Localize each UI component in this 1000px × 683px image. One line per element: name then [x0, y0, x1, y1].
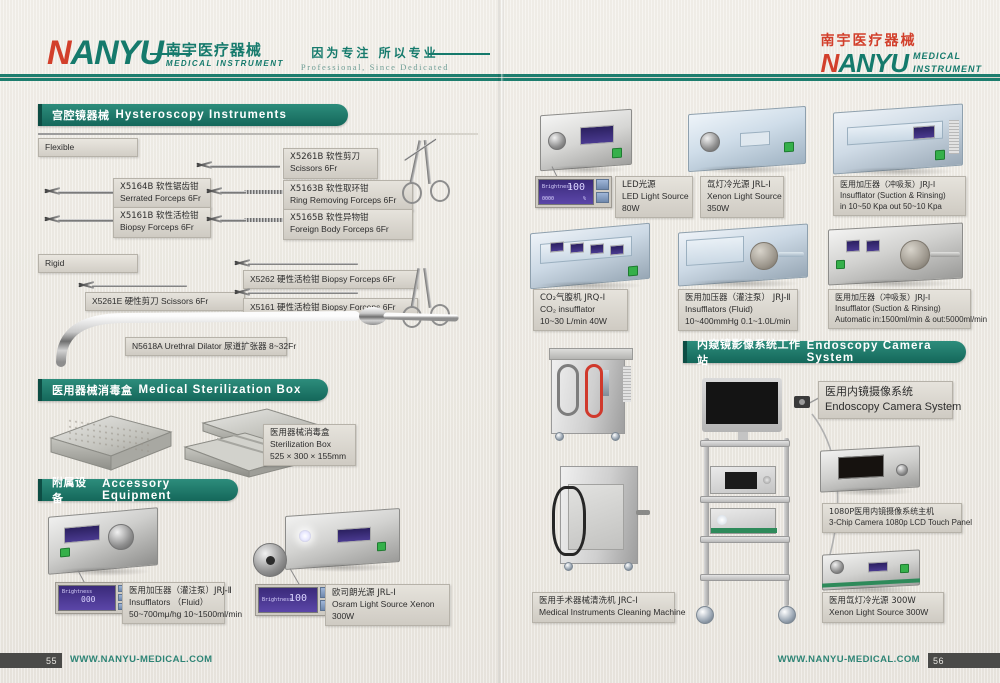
- instrument-jaw-ring-removing: [206, 186, 222, 197]
- cleaning-machine-red-hose: [585, 364, 603, 418]
- page-spine: [498, 0, 504, 683]
- forceps-arm-a-upper: [409, 140, 421, 184]
- instrument-label-x5163b-en: Ring Removing Forceps 6Fr: [290, 195, 406, 206]
- device-shadow-insufflator-suction-2: [836, 279, 955, 288]
- device-label-co2-spec: 10~30 L/min 40W: [540, 316, 621, 327]
- device-label-led-spec: 80W: [622, 203, 686, 214]
- device-shadow-camera-host: [826, 487, 914, 496]
- instrument-jaw-rigid-scissors: [78, 280, 94, 291]
- device-tube-port-insufflator-suction-2: [930, 252, 960, 257]
- device-shadow-insufflator-fluid-2: [686, 279, 800, 288]
- trolley-camera-host: [710, 466, 776, 494]
- brand-name-cn-right: 南宇医疗器械: [821, 30, 982, 50]
- camera-system-main-label-cn: 医用内镜摄像系统: [825, 385, 946, 400]
- mini-lcd-value-osram: 100: [289, 593, 307, 604]
- section-banner-camera-system: 内窥镜影像系统工作站 Endoscopy Camera System: [683, 341, 966, 363]
- device-label-insufflator-fluid-cn: 医用加压器（灌注泵）JRJ-Ⅱ: [129, 586, 218, 597]
- section-banner-hysteroscopy-en: Hysteroscopy Instruments: [116, 109, 287, 121]
- trolley-shelf-2: [700, 496, 790, 503]
- page-number-left: 55: [0, 653, 62, 668]
- device-label-insufflator-suction-1-cn: 医用加压器（冲吸泵）JRJ-Ⅰ: [840, 180, 959, 191]
- instrument-label-x5165b-cn: X5165B 软性异物钳: [290, 213, 406, 224]
- brand-wordmark: NANYU: [47, 36, 163, 70]
- instrument-shaft-ring-removing: [220, 191, 246, 194]
- trolley-light-source-stripe: [711, 528, 777, 533]
- device-power-button-xenon: [784, 142, 794, 153]
- device-label-insufflator-fluid-spec: 50~700mμ/hg 10~1500ml/min: [129, 609, 218, 620]
- device-label-xenon: 氙灯冷光源 JRL-Ⅰ Xenon Light Source 350W: [700, 176, 784, 218]
- instrument-jaw-serrated: [44, 186, 60, 197]
- device-label-insufflator-suction-1-spec: in 10~50 Kpa out 50~10 Kpa: [840, 202, 959, 213]
- device-label-led-en: LED Light Source: [622, 191, 686, 202]
- device-image-insufflator-suction-2: [828, 226, 963, 282]
- instrument-label-x5165b: X5165B 软性异物钳 Foreign Body Forceps 6Fr: [283, 209, 413, 240]
- forceps-ring-a-upper: [402, 182, 422, 204]
- section-banner-sterilization-cn: 医用器械消毒盒: [52, 382, 133, 398]
- device-image-xenon-300w: [822, 552, 920, 588]
- device-label-insufflator-suction-1: 医用加压器（冲吸泵）JRJ-Ⅰ Insufflator (Suction & R…: [833, 176, 966, 216]
- instrument-shaft-serrated: [58, 191, 118, 194]
- device-light-port-xenon: [700, 132, 720, 152]
- instrument-label-n5618a-text: N5618A Urethral Dilator 尿道扩张器 8~32Fr: [132, 341, 280, 352]
- mini-lcd-insufflator-fluid: Brightness 000: [58, 585, 116, 611]
- brand-letter-n: N: [47, 34, 71, 72]
- device-label-insufflator-fluid-2-spec: 10~400mmHg 0.1~1.0L/min: [685, 316, 791, 327]
- device-label-co2-cn: CO₂气腹机 JRQ-Ⅰ: [540, 293, 621, 304]
- device-power-button-insufflator-fluid: [60, 548, 70, 558]
- mini-keys-led[interactable]: [596, 179, 609, 205]
- device-label-insufflator-suction-1-en: Insufflator (Suction & Rinsing): [840, 191, 959, 202]
- device-image-cleaning-machine-top: [543, 344, 643, 444]
- instrument-jaw-x5262: [234, 258, 250, 269]
- mini-lcd-unit-led: %: [583, 196, 586, 202]
- sterilization-box-label-size: 525 × 300 × 155mm: [270, 451, 349, 462]
- section-banner-camera-system-en: Endoscopy Camera System: [807, 340, 966, 364]
- device-screen-b-insufflator-suction-2: [866, 240, 880, 253]
- mini-lcd-led: Brightness 100 0000 %: [538, 179, 594, 205]
- trolley-light-source-port: [717, 515, 727, 525]
- catalog-page: NANYU 南宇医疗器械 MEDICAL INSTRUMENT 因为专注 所以专…: [0, 0, 1000, 683]
- device-label-cleaning-machine-en: Medical Instruments Cleaning Machine: [539, 607, 668, 618]
- device-vent-insufflator-suction-1: [949, 120, 959, 154]
- section-banner-accessory: 附属设备 Accessory Equipment: [38, 479, 238, 501]
- device-label-camera-host-cn: 1080P医用内镜摄像系统主机: [829, 507, 955, 518]
- device-label-insufflator-suction-2-en: Insufflator (Suction & Rinsing): [835, 304, 964, 315]
- instrument-jaw-x5161: [234, 287, 250, 298]
- sterilization-box-closed-image: [45, 410, 175, 470]
- cleaning-machine-top-caster-right: [611, 432, 620, 441]
- brand-logo-right: 南宇医疗器械 NANYU MEDICAL INSTRUMENT: [821, 30, 982, 76]
- page-number-right: 56: [928, 653, 1000, 668]
- cleaning-machine-bottom-handle: [636, 510, 650, 515]
- instrument-label-x5261b-cn: X5261B 软性剪刀: [290, 152, 371, 163]
- instrument-jaw-scissors-flex: [196, 160, 212, 171]
- instrument-jaw-biopsy-flex: [44, 214, 60, 225]
- device-power-button-co2: [628, 266, 638, 277]
- device-light-port-xenon-300w: [830, 560, 844, 574]
- device-screen-b-co2: [570, 242, 584, 253]
- brand-wordmark-right: NANYU: [821, 50, 908, 76]
- brand-medical-line1: MEDICAL: [913, 51, 982, 63]
- device-knob-led: [548, 132, 566, 150]
- device-mini-display-led: Brightness 100 0000 %: [535, 176, 612, 208]
- device-screen-xenon-300w: [868, 561, 888, 572]
- sterilization-box-label: 医用器械消毒盒 Sterilization Box 525 × 300 × 15…: [263, 424, 356, 466]
- trolley-monitor-frame: [702, 378, 782, 432]
- device-touch-panel-camera-host: [838, 455, 884, 479]
- device-pump-head-insufflator-suction-2: [900, 240, 930, 270]
- cleaning-machine-bottom-hose: [552, 486, 586, 556]
- forceps-ring-b-upper: [430, 180, 450, 202]
- device-label-cleaning-machine-cn: 医用手术器械清洗机 JRC-Ⅰ: [539, 596, 668, 607]
- device-light-port-osram: [299, 530, 311, 542]
- device-label-xenon-300w-en: Xenon Light Source 300W: [829, 607, 937, 618]
- device-label-xenon-cn: 氙灯冷光源 JRL-Ⅰ: [707, 180, 777, 191]
- device-image-camera-host: [820, 448, 920, 490]
- device-label-insufflator-fluid: 医用加压器（灌注泵）JRJ-Ⅱ Insufflators （Fluid） 50~…: [122, 582, 225, 624]
- footer-url-left[interactable]: WWW.NANYU-MEDICAL.COM: [70, 654, 212, 665]
- device-power-button-insufflator-suction-2: [836, 260, 845, 269]
- section-banner-accessory-en: Accessory Equipment: [102, 478, 238, 502]
- hysteroscopy-top-rule: [38, 133, 478, 135]
- instrument-jaw-foreign-body: [206, 214, 222, 225]
- group-label-rigid-text: Rigid: [45, 258, 131, 269]
- mini-lcd-value-insufflator-fluid: 000: [81, 595, 95, 604]
- device-image-cleaning-machine-bottom: [548, 458, 658, 576]
- device-shadow-led: [546, 165, 627, 174]
- device-image-xenon-light-source: [688, 110, 806, 168]
- instrument-shaft-x5161: [248, 292, 358, 294]
- device-control-panel-insufflator-fluid-2: [686, 236, 744, 266]
- instrument-shaft-foreign-body: [220, 219, 246, 222]
- instrument-label-x5262: X5262 硬性活检钳 Biopsy Forceps 6Fr: [243, 270, 418, 289]
- device-label-xenon-spec: 350W: [707, 203, 777, 214]
- brand-tagline: 因为专注 所以专业 Professional, Since Dedicated: [255, 44, 495, 72]
- section-banner-hysteroscopy: 宫腔镜器械 Hysteroscopy Instruments: [38, 104, 348, 126]
- tagline-rule-right: [428, 53, 490, 55]
- instrument-shaft-biopsy-flex: [58, 219, 118, 222]
- device-image-insufflator-fluid: [48, 512, 158, 570]
- device-label-cleaning-machine: 医用手术器械清洗机 JRC-Ⅰ Medical Instruments Clea…: [532, 592, 675, 623]
- page-footer: 55 WWW.NANYU-MEDICAL.COM WWW.NANYU-MEDIC…: [0, 645, 1000, 683]
- brand-wordmark-row-right: NANYU MEDICAL INSTRUMENT: [821, 50, 982, 76]
- instrument-label-x5161b: X5161B 软性活检钳 Biopsy Forceps 6Fr: [113, 207, 211, 238]
- light-guide-core-osram: [266, 556, 275, 565]
- trolley-shelf-1: [700, 440, 790, 447]
- device-label-led-cn: LED光源: [622, 180, 686, 191]
- device-shadow-insufflator-fluid: [55, 567, 152, 576]
- cleaning-machine-spray-gun: [603, 370, 609, 396]
- device-connector-camera-host: [896, 464, 908, 476]
- device-image-led-light-source: [540, 112, 632, 168]
- instrument-shaft-x5262: [248, 263, 358, 265]
- device-label-insufflator-fluid-2-en: Insufflators (Fluid): [685, 304, 791, 315]
- device-screen-insufflator-suction-1: [913, 125, 935, 140]
- device-screen-osram: [337, 527, 371, 543]
- tagline-rule-left: [150, 53, 192, 55]
- group-label-flexible: Flexible: [38, 138, 138, 157]
- instrument-label-x5261b-en: Scissors 6Fr: [290, 163, 371, 174]
- device-label-insufflator-suction-2-cn: 医用加压器（冲吸泵）JRJ-Ⅰ: [835, 293, 964, 304]
- trolley-monitor-screen: [706, 382, 778, 424]
- group-label-rigid: Rigid: [38, 254, 138, 273]
- instrument-coil-foreign-body: [244, 218, 286, 222]
- device-label-co2-en: CO₂ insufflator: [540, 304, 621, 315]
- device-label-xenon-300w-cn: 医用氙灯冷光源 300W: [829, 596, 937, 607]
- tagline-en: Professional, Since Dedicated: [255, 62, 495, 72]
- device-screen-a-co2: [550, 241, 564, 252]
- footer-url-right[interactable]: WWW.NANYU-MEDICAL.COM: [778, 654, 920, 665]
- cleaning-machine-top-header-panel: [549, 348, 633, 360]
- instrument-label-x5161b-en: Biopsy Forceps 6Fr: [120, 222, 204, 233]
- urethral-dilator-drawing: [55, 300, 475, 370]
- device-shadow-xenon: [695, 165, 799, 174]
- mini-lcd-osram: Brightness 100: [258, 587, 318, 613]
- device-screen-led: [580, 125, 614, 145]
- instrument-label-n5618a: N5618A Urethral Dilator 尿道扩张器 8~32Fr: [125, 337, 287, 356]
- sterilization-box-label-en: Sterilization Box: [270, 439, 349, 450]
- instrument-coil-ring-removing: [244, 190, 286, 194]
- device-label-insufflator-fluid-2: 医用加压器（灌注泵） JRJ-Ⅱ Insufflators (Fluid) 10…: [678, 289, 798, 331]
- cleaning-machine-bottom-caster-left: [564, 562, 573, 571]
- sterilization-box-label-cn: 医用器械消毒盒: [270, 428, 349, 439]
- instrument-label-x5164b-cn: X5164B 软性锯齿钳: [120, 182, 204, 193]
- device-label-insufflator-fluid-2-cn: 医用加压器（灌注泵） JRJ-Ⅱ: [685, 293, 791, 304]
- cleaning-machine-top-caster-left: [555, 432, 564, 441]
- device-image-insufflator-fluid-2: [678, 228, 808, 282]
- device-label-osram-cn: 欧司朗光源 JRL-Ⅰ: [332, 588, 443, 599]
- device-label-xenon-300w: 医用氙灯冷光源 300W Xenon Light Source 300W: [822, 592, 944, 623]
- group-label-flexible-text: Flexible: [45, 142, 131, 153]
- device-tube-port-insufflator-fluid-2: [778, 252, 804, 257]
- device-label-camera-host-en: 3-Chip Camera 1080p LCD Touch Panel: [829, 518, 955, 529]
- device-image-insufflator-suction-1: [833, 108, 963, 170]
- trolley-caster-left: [696, 606, 714, 624]
- trolley-light-source: [710, 508, 776, 534]
- cleaning-machine-top-vent: [623, 366, 631, 402]
- device-screen-c-co2: [590, 243, 604, 254]
- cleaning-machine-bottom-caster-right: [624, 562, 633, 571]
- mini-key-down-led[interactable]: [596, 192, 609, 203]
- instrument-label-x5163b-cn: X5163B 软性取环钳: [290, 184, 406, 195]
- device-power-button-led: [612, 148, 622, 159]
- device-screen-insufflator-fluid: [64, 524, 100, 543]
- device-shadow-insufflator-suction-1: [841, 167, 955, 176]
- section-banner-sterilization-en: Medical Sterilization Box: [139, 384, 302, 396]
- device-image-co2-insufflator: [530, 228, 650, 284]
- instrument-label-x5164b-en: Serrated Forceps 6Fr: [120, 193, 204, 204]
- device-label-insufflator-suction-2: 医用加压器（冲吸泵）JRJ-Ⅰ Insufflator (Suction & R…: [828, 289, 971, 329]
- device-label-insufflator-fluid-en: Insufflators （Fluid）: [129, 597, 218, 608]
- section-banner-accessory-cn: 附属设备: [52, 474, 96, 506]
- device-label-led: LED光源 LED Light Source 80W: [615, 176, 693, 218]
- section-banner-camera-system-cn: 内窥镜影像系统工作站: [697, 336, 801, 368]
- device-power-button-xenon-300w: [900, 564, 909, 573]
- device-image-osram-light-source: [285, 512, 400, 566]
- mini-lcd-line1-osram: Brightness: [262, 597, 292, 603]
- device-label-co2: CO₂气腹机 JRQ-Ⅰ CO₂ insufflator 10~30 L/min…: [533, 289, 628, 331]
- instrument-label-x5161b-cn: X5161B 软性活检钳: [120, 211, 204, 222]
- device-pump-head-insufflator-fluid: [108, 524, 134, 550]
- section-banner-hysteroscopy-cn: 宫腔镜器械: [52, 107, 110, 123]
- brand-medical-instrument-right: MEDICAL INSTRUMENT: [913, 51, 982, 76]
- cleaning-machine-grey-hose: [557, 364, 579, 416]
- trolley-shelf-3: [700, 536, 790, 543]
- device-label-camera-host: 1080P医用内镜摄像系统主机 3-Chip Camera 1080p LCD …: [822, 503, 962, 533]
- device-label-xenon-en: Xenon Light Source: [707, 191, 777, 202]
- instrument-label-x5261b: X5261B 软性剪刀 Scissors 6Fr: [283, 148, 378, 179]
- trolley-shelf-4: [700, 574, 790, 581]
- trolley-camera-host-port: [763, 476, 771, 484]
- mini-lcd-sub-led: 0000: [542, 196, 554, 202]
- mini-lcd-value-led: 100: [567, 182, 585, 193]
- device-label-insufflator-suction-2-spec: Automatic in:1500ml/min & out:5000ml/min: [835, 315, 964, 326]
- instrument-label-x5163b: X5163B 软性取环钳 Ring Removing Forceps 6Fr: [283, 180, 413, 211]
- device-screen-a-insufflator-suction-2: [846, 240, 860, 253]
- mini-key-up-led[interactable]: [596, 179, 609, 190]
- instrument-shaft-rigid-scissors: [92, 285, 187, 287]
- instrument-label-x5165b-en: Foreign Body Forceps 6Fr: [290, 224, 406, 235]
- instrument-label-x5164b: X5164B 软性锯齿钳 Serrated Forceps 6Fr: [113, 178, 211, 209]
- camera-system-main-label-en: Endoscopy Camera System: [825, 400, 946, 415]
- device-pump-head-insufflator-fluid-2: [750, 242, 778, 270]
- trolley-camera-host-screen: [725, 472, 757, 489]
- device-control-panel-xenon: [740, 131, 770, 147]
- device-label-osram-en: Osram Light Source Xenon: [332, 599, 443, 610]
- device-label-osram: 欧司朗光源 JRL-Ⅰ Osram Light Source Xenon 300…: [325, 584, 450, 626]
- device-power-button-osram: [377, 542, 386, 552]
- device-screen-d-co2: [610, 244, 624, 255]
- device-shadow-osram: [292, 563, 393, 572]
- trolley-monitor-stand: [738, 432, 748, 440]
- instrument-shaft-scissors-flex: [210, 165, 280, 168]
- camera-system-main-label: 医用内镜摄像系统 Endoscopy Camera System: [818, 381, 953, 419]
- instrument-label-x5262-text: X5262 硬性活检钳 Biopsy Forceps 6Fr: [250, 274, 411, 285]
- device-label-osram-spec: 300W: [332, 611, 443, 622]
- device-power-button-insufflator-suction-1: [935, 150, 945, 161]
- section-banner-sterilization: 医用器械消毒盒 Medical Sterilization Box: [38, 379, 328, 401]
